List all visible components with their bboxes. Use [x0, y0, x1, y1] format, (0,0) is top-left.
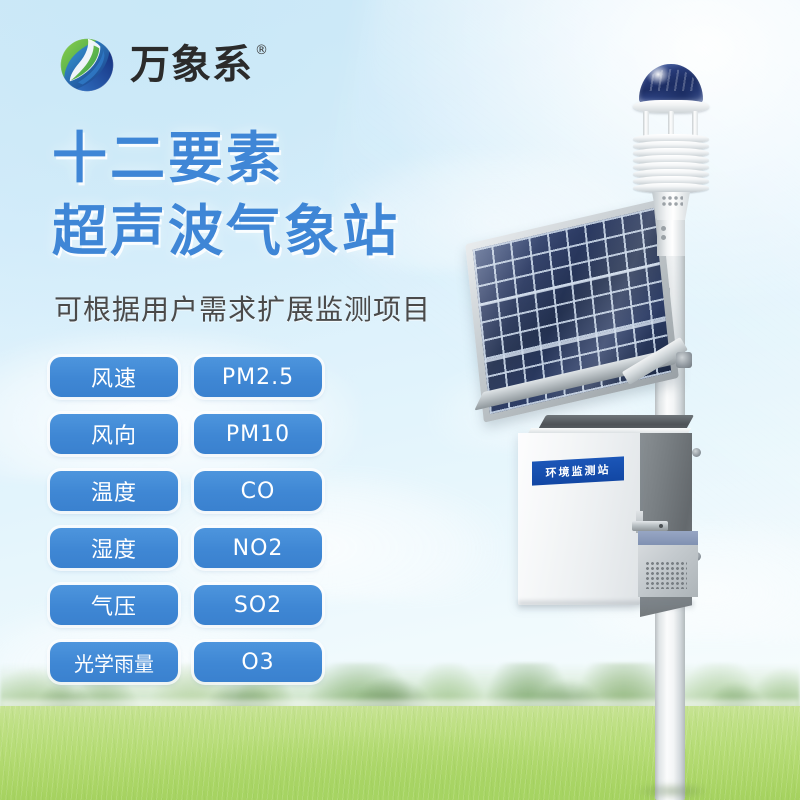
cabinet-latch — [632, 521, 668, 531]
measured-parameters-list: 风速 PM2.5 风向 PM10 温度 CO 湿度 NO2 气压 SO2 光学雨… — [50, 357, 322, 682]
cabinet-nameplate: 环境监测站 — [532, 456, 624, 485]
pole-bolt — [676, 352, 692, 368]
shield-louver — [633, 183, 709, 193]
parameter-badge[interactable]: NO2 — [194, 528, 322, 568]
pole-ground-shadow — [636, 782, 708, 800]
subheadline: 可根据用户需求扩展监测项目 — [54, 288, 431, 328]
parameter-badge[interactable]: 气压 — [50, 585, 178, 625]
parameter-badge[interactable]: PM10 — [194, 414, 322, 454]
parameter-badge[interactable]: 温度 — [50, 471, 178, 511]
parameter-badge[interactable]: 风向 — [50, 414, 178, 454]
cabinet-nameplate-text: 环境监测站 — [546, 461, 611, 481]
equipment-cabinet: 环境监测站 — [518, 415, 704, 615]
parameter-badge[interactable]: PM2.5 — [194, 357, 322, 397]
headline-line-2: 超声波气象站 — [52, 195, 400, 268]
globe-swirl-logo-icon — [58, 36, 116, 94]
vent-grille-holes — [645, 561, 687, 589]
headline: 十二要素 超声波气象站 — [52, 122, 400, 268]
product-banner: 环境监测站 — [0, 0, 800, 800]
headline-line-1: 十二要素 — [52, 126, 284, 190]
parameter-badge[interactable]: 光学雨量 — [50, 642, 178, 682]
cabinet-shadow — [518, 601, 694, 611]
registered-trademark-icon: ® — [255, 43, 268, 58]
parameter-badge[interactable]: 风速 — [50, 357, 178, 397]
brand-name: 万象系 — [130, 45, 253, 85]
sensor-vent-holes — [661, 195, 683, 208]
brand-lockup: 万象系 ® — [58, 36, 268, 94]
ultrasonic-sensor-head — [625, 64, 717, 244]
parameter-badge[interactable]: 湿度 — [50, 528, 178, 568]
parameter-badge[interactable]: SO2 — [194, 585, 322, 625]
radiation-shield — [633, 134, 709, 196]
ultrasonic-dome-icon — [639, 64, 703, 104]
parameter-badge[interactable]: CO — [194, 471, 322, 511]
sensor-mount-tube — [657, 220, 685, 256]
parameter-badge[interactable]: O3 — [194, 642, 322, 682]
